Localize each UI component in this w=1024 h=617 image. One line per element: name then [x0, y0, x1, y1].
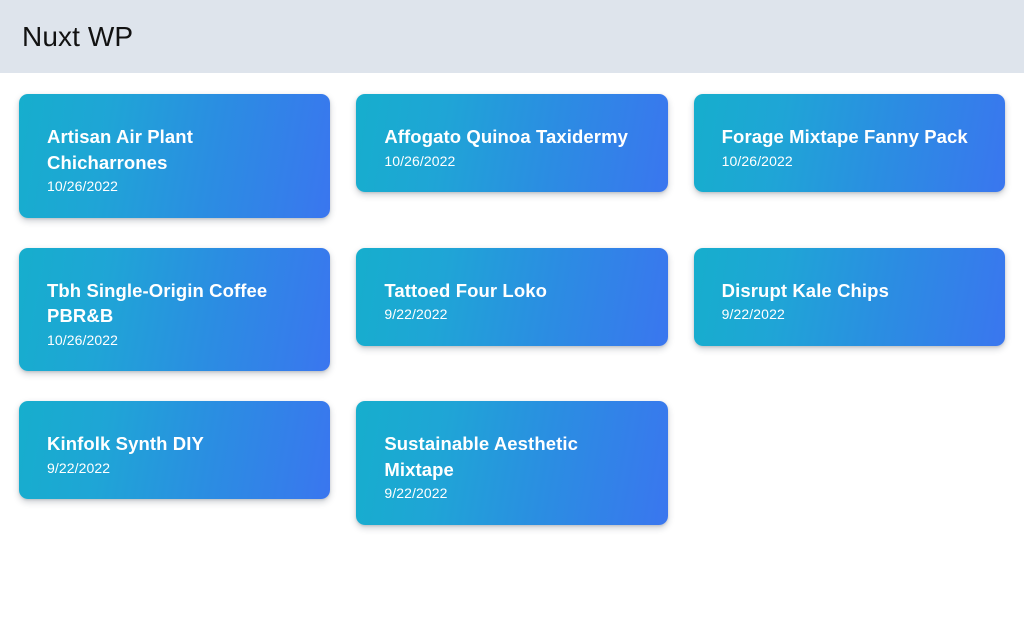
post-date: 10/26/2022 — [47, 332, 302, 350]
post-title: Tattoed Four Loko — [384, 278, 639, 304]
app-title: Nuxt WP — [22, 23, 133, 51]
post-title: Sustainable Aesthetic Mixtape — [384, 431, 639, 482]
post-card[interactable]: Artisan Air Plant Chicharrones 10/26/202… — [19, 94, 330, 218]
post-date: 10/26/2022 — [47, 178, 302, 196]
post-date: 9/22/2022 — [384, 306, 639, 324]
post-card[interactable]: Sustainable Aesthetic Mixtape 9/22/2022 — [356, 401, 667, 525]
post-card[interactable]: Affogato Quinoa Taxidermy 10/26/2022 — [356, 94, 667, 192]
post-date: 9/22/2022 — [384, 485, 639, 503]
post-title: Kinfolk Synth DIY — [47, 431, 302, 457]
main-content: Artisan Air Plant Chicharrones 10/26/202… — [0, 73, 1024, 525]
post-card[interactable]: Tbh Single-Origin Coffee PBR&B 10/26/202… — [19, 248, 330, 372]
app-header: Nuxt WP — [0, 0, 1024, 73]
post-grid: Artisan Air Plant Chicharrones 10/26/202… — [19, 94, 1005, 525]
post-card[interactable]: Kinfolk Synth DIY 9/22/2022 — [19, 401, 330, 499]
post-title: Artisan Air Plant Chicharrones — [47, 124, 302, 175]
post-date: 10/26/2022 — [722, 153, 977, 171]
post-card[interactable]: Tattoed Four Loko 9/22/2022 — [356, 248, 667, 346]
post-date: 10/26/2022 — [384, 153, 639, 171]
post-date: 9/22/2022 — [722, 306, 977, 324]
post-title: Tbh Single-Origin Coffee PBR&B — [47, 278, 302, 329]
post-card[interactable]: Disrupt Kale Chips 9/22/2022 — [694, 248, 1005, 346]
post-date: 9/22/2022 — [47, 460, 302, 478]
post-title: Forage Mixtape Fanny Pack — [722, 124, 977, 150]
post-title: Affogato Quinoa Taxidermy — [384, 124, 639, 150]
post-title: Disrupt Kale Chips — [722, 278, 977, 304]
post-card[interactable]: Forage Mixtape Fanny Pack 10/26/2022 — [694, 94, 1005, 192]
